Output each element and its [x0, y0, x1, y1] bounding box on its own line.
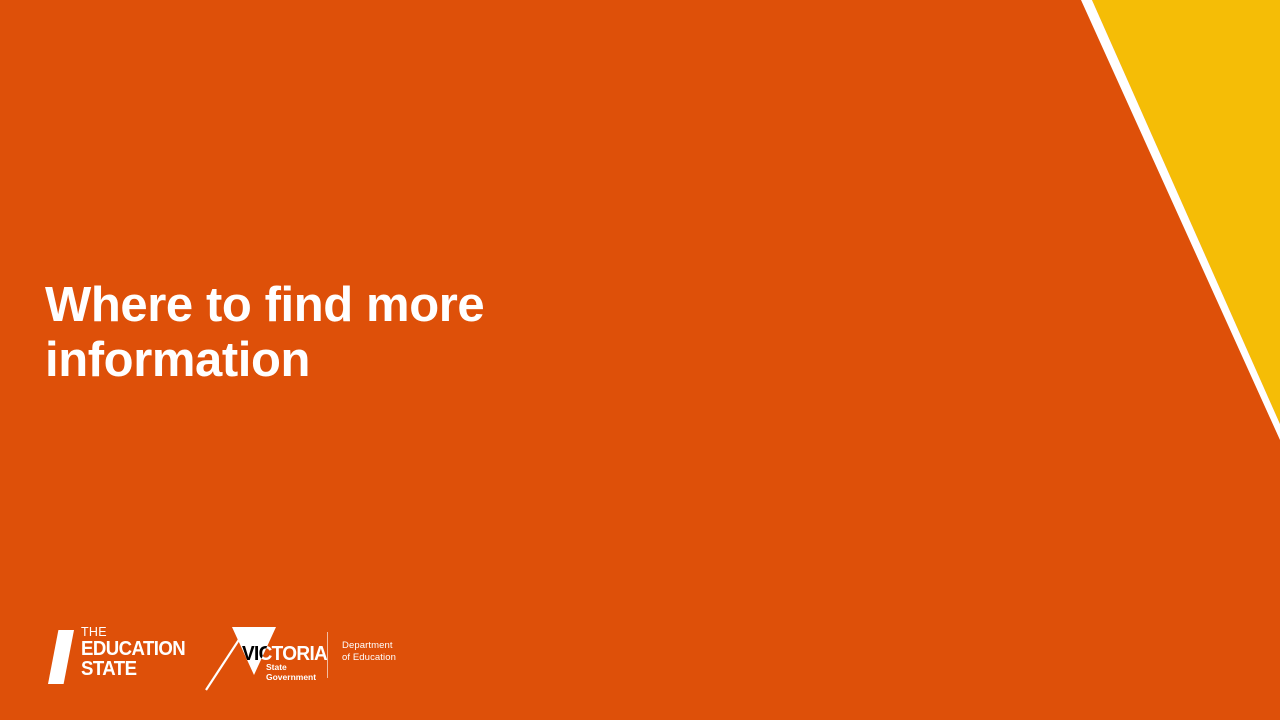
- education-state-wordmark: THE EDUCATION STATE: [81, 626, 193, 679]
- slide-canvas: Where to find more information THE EDUCA…: [0, 0, 1280, 720]
- victoria-wordmark: VICTORIA: [242, 644, 327, 664]
- victoria-subtitle: State Government: [266, 663, 316, 682]
- page-title: Where to find more information: [45, 278, 565, 388]
- department-label-line2: of Education: [342, 652, 396, 664]
- slide-footer: THE EDUCATION STATE VICTORIA State Gover…: [0, 610, 1280, 720]
- department-label: Department of Education: [342, 640, 396, 664]
- victoria-government-logo: VICTORIA State Government Department of …: [232, 626, 412, 690]
- education-state-line-state: STATE: [81, 659, 185, 679]
- education-state-logo: THE EDUCATION STATE: [48, 626, 218, 688]
- victoria-subtitle-line2: Government: [266, 673, 316, 683]
- department-label-line1: Department: [342, 640, 396, 652]
- backslash-icon: [48, 630, 74, 684]
- title-block: Where to find more information: [45, 278, 565, 388]
- logo-vertical-rule: [327, 632, 328, 678]
- education-state-line-education: EDUCATION: [81, 639, 185, 659]
